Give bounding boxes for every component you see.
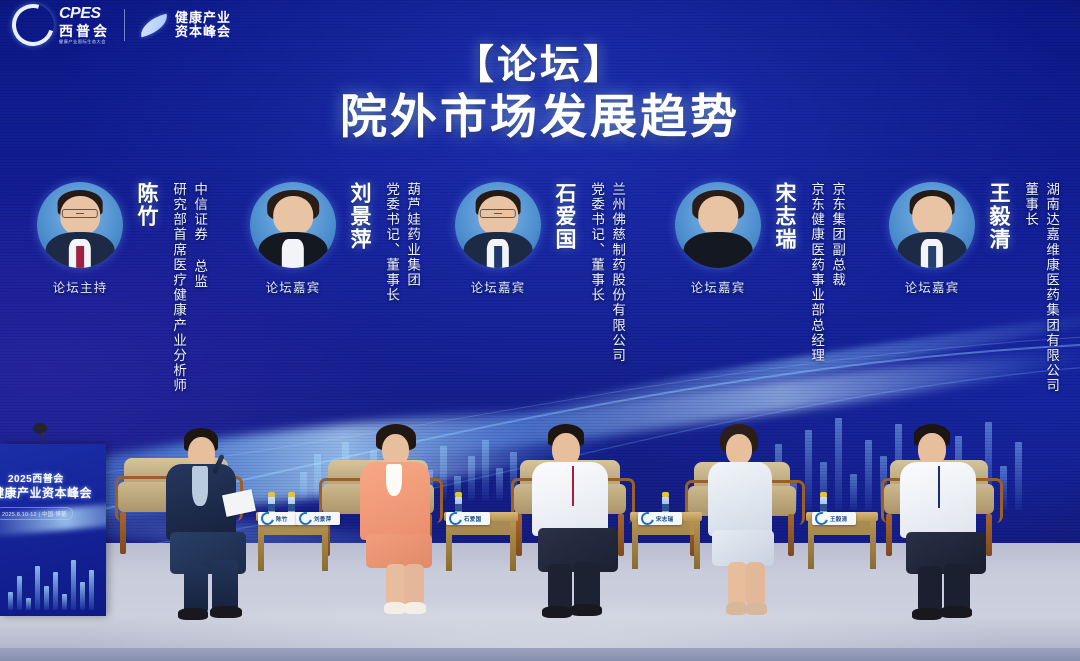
nameplate-2: 石爱国 <box>446 512 490 525</box>
panelist-avatar-0 <box>37 182 123 268</box>
panelist-avatar-2 <box>455 182 541 268</box>
cpes-logo: CPES 西普会 健康产业国际生态大会 <box>12 4 110 46</box>
nameplate-logo-icon-4 <box>813 510 831 528</box>
panelist-card-row: 论坛主持 陈竹 中信证券 总监 研究部首席医疗健康产业分析师 论坛嘉宾 刘景萍 … <box>0 182 1080 482</box>
panelist-title-4: 湖南达嘉维康医药集团有限公司 董事长 <box>1018 182 1060 393</box>
panelist-card-2: 论坛嘉宾 石爱国 兰州佛慈制药股份有限公司 党委书记、董事长 <box>452 182 626 363</box>
nameplate-label-3: 宋志瑞 <box>656 515 673 523</box>
panelist-role-0: 论坛主持 <box>53 277 108 296</box>
nameplate-logo-icon-0 <box>259 510 277 528</box>
nameplate-4: 王毅清 <box>812 512 856 525</box>
logo-divider <box>124 9 125 41</box>
panelist-card-4: 论坛嘉宾 王毅清 湖南达嘉维康医药集团有限公司 董事长 <box>886 182 1060 393</box>
conference-stage-photo: CPES 西普会 健康产业国际生态大会 健康产业 资本峰会 【论坛】 院外市场发… <box>0 0 1080 661</box>
panelist-title-line-2-1: 党委书记、董事长 <box>587 182 605 363</box>
nameplate-label-4: 王毅清 <box>830 515 847 523</box>
health-capital-summit-logo: 健康产业 资本峰会 <box>139 11 231 39</box>
panelist-title-line-0-0: 中信证券 总监 <box>190 182 208 393</box>
panelist-title-line-3-1: 京东健康医药事业部总经理 <box>807 182 825 363</box>
cpes-logo-cn: 西普会 <box>59 24 110 38</box>
cpes-logo-en: CPES <box>59 6 110 22</box>
stage-front-edge <box>0 648 1080 661</box>
banner-date-location: 2025.8.10-12 | 中国·博鳌 <box>0 507 73 520</box>
panelist-title-line-4-0: 湖南达嘉维康医药集团有限公司 <box>1042 182 1060 393</box>
nameplate-logo-icon-3 <box>639 510 657 528</box>
panelist-name-1: 刘景萍 <box>344 182 374 251</box>
forum-title-line2: 院外市场发展趋势 <box>0 89 1080 144</box>
panelist-name-0: 陈竹 <box>131 182 161 228</box>
nameplate-3: 宋志瑞 <box>638 512 682 525</box>
panelist-title-3: 京东集团副总裁 京东健康医药事业部总经理 <box>804 182 846 363</box>
summit-logo-line2: 资本峰会 <box>175 25 231 39</box>
panelist-title-0: 中信证券 总监 研究部首席医疗健康产业分析师 <box>166 182 208 393</box>
nameplate-logo-icon-1 <box>297 510 315 528</box>
panelist-title-2: 兰州佛慈制药股份有限公司 党委书记、董事长 <box>584 182 626 363</box>
nameplate-1: 刘景萍 <box>296 512 340 525</box>
panelist-card-3: 论坛嘉宾 宋志瑞 京东集团副总裁 京东健康医药事业部总经理 <box>672 182 846 363</box>
panelist-title-line-0-1: 研究部首席医疗健康产业分析师 <box>169 182 187 393</box>
panelist-role-4: 论坛嘉宾 <box>905 277 960 296</box>
panelist-name-4: 王毅清 <box>983 182 1013 251</box>
nameplate-label-2: 石爱国 <box>464 515 481 523</box>
panelist-title-line-1-1: 党委书记、董事长 <box>382 182 400 303</box>
held-papers-0 <box>222 489 256 517</box>
panelist-title-line-4-1: 董事长 <box>1021 182 1039 393</box>
panelist-name-3: 宋志瑞 <box>769 182 799 251</box>
panelist-name-2: 石爱国 <box>549 182 579 251</box>
panelist-title-line-2-0: 兰州佛慈制药股份有限公司 <box>608 182 626 363</box>
panelist-avatar-1 <box>250 182 336 268</box>
nameplate-logo-icon-2 <box>447 510 465 528</box>
panelist-avatar-4 <box>889 182 975 268</box>
panelist-card-1: 论坛嘉宾 刘景萍 葫芦娃药业集团 党委书记、董事长 <box>247 182 421 303</box>
panelist-title-1: 葫芦娃药业集团 党委书记、董事长 <box>379 182 421 303</box>
leaf-icon <box>139 17 169 34</box>
panelist-title-line-1-0: 葫芦娃药业集团 <box>403 182 421 303</box>
summit-logo-line1: 健康产业 <box>175 11 231 25</box>
panelist-role-2: 论坛嘉宾 <box>471 277 526 296</box>
nameplate-label-0: 陈竹 <box>276 515 288 523</box>
nameplate-0: 陈竹 <box>258 512 298 525</box>
panelist-title-line-3-0: 京东集团副总裁 <box>828 182 846 363</box>
cpes-logo-subtitle: 健康产业国际生态大会 <box>59 40 106 44</box>
nameplate-label-1: 刘景萍 <box>314 515 331 523</box>
forum-title-line1: 【论坛】 <box>0 44 1080 87</box>
panelist-card-0: 论坛主持 陈竹 中信证券 总监 研究部首席医疗健康产业分析师 <box>34 182 208 393</box>
event-logo-bar: CPES 西普会 健康产业国际生态大会 健康产业 资本峰会 <box>12 4 231 46</box>
banner-title-line2: 健康产业资本峰会 <box>0 484 92 501</box>
banner-bar-graphic <box>8 556 100 610</box>
forum-title-block: 【论坛】 院外市场发展趋势 <box>0 44 1080 145</box>
panelist-role-1: 论坛嘉宾 <box>266 277 321 296</box>
panelist-avatar-3 <box>675 182 761 268</box>
panelist-role-3: 论坛嘉宾 <box>691 277 746 296</box>
cpes-ring-icon <box>5 0 62 53</box>
